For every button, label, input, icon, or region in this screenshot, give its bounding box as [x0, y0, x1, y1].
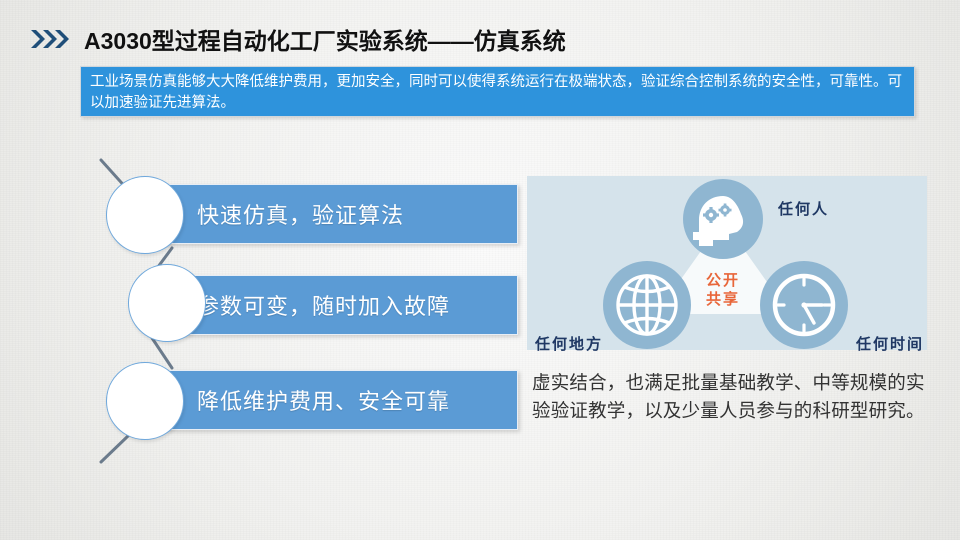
description-paragraph: 虚实结合，也满足批量基础教学、中等规模的实验验证教学，以及少量人员参与的科研型研… [532, 370, 932, 426]
feature-bullet-circle-1 [106, 176, 184, 254]
sharing-diagram-graphic [527, 176, 927, 350]
diagram-center-text: 公开 共享 [706, 271, 740, 309]
diagram-center-line-2: 共享 [706, 290, 740, 309]
connector-lines [0, 0, 540, 540]
feature-bar-3[interactable]: 降低维护费用、安全可靠 [148, 370, 518, 430]
feature-label-1: 快速仿真，验证算法 [197, 198, 404, 230]
feature-label-3: 降低维护费用、安全可靠 [197, 384, 450, 416]
diagram-center-line-1: 公开 [706, 271, 740, 290]
sharing-diagram-panel [527, 176, 927, 350]
globe-icon [603, 261, 691, 349]
slide-canvas: A3030型过程自动化工厂实验系统——仿真系统 工业场景仿真能够大大降低维护费用… [0, 0, 960, 540]
feature-bullet-circle-2 [128, 264, 206, 342]
head-with-gears-icon [683, 179, 763, 259]
feature-bar-1[interactable]: 快速仿真，验证算法 [148, 184, 518, 244]
feature-list: 快速仿真，验证算法 参数可变，随时加入故障 降低维护费用、安全可靠 [0, 0, 540, 540]
feature-label-2: 参数可变，随时加入故障 [197, 289, 450, 321]
diagram-label-place: 任何地方 [535, 333, 603, 354]
feature-bullet-circle-3 [106, 362, 184, 440]
diagram-label-time: 任何时间 [856, 333, 924, 354]
diagram-label-person: 任何人 [778, 198, 829, 219]
clock-icon [760, 261, 848, 349]
